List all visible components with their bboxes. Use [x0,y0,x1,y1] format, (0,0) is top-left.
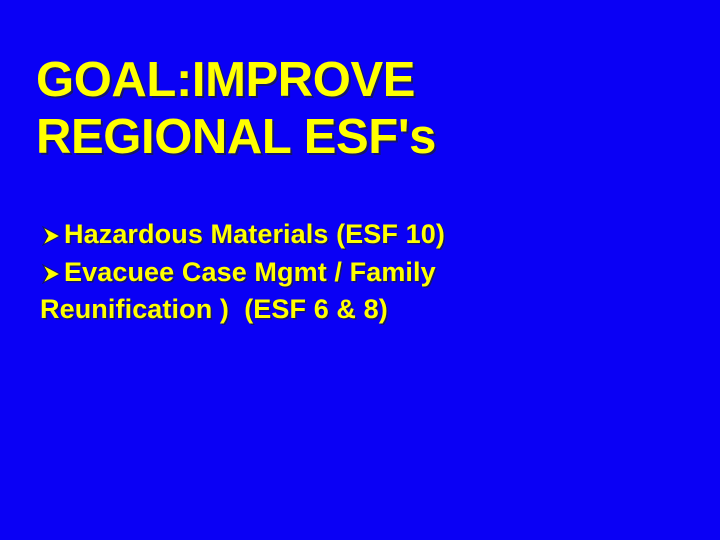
arrowhead-bullet-icon [40,262,63,286]
bullet-list-item: Hazardous Materials (ESF 10) [40,216,688,253]
bullet-text: Hazardous Materials (ESF 10) [64,219,445,249]
presentation-slide: GOAL:IMPROVE REGIONAL ESF's Hazardous Ma… [0,0,720,540]
title-line-1: GOAL:IMPROVE [36,52,684,109]
arrowhead-bullet-icon [40,224,63,248]
bullet-list-item: Evacuee Case Mgmt / Family Reunification… [40,254,600,328]
slide-title: GOAL:IMPROVE REGIONAL ESF's [36,52,684,166]
bullet-text: Evacuee Case Mgmt / Family Reunification… [40,257,443,324]
title-line-2: REGIONAL ESF's [36,109,684,166]
slide-body: Hazardous Materials (ESF 10) Evacuee Cas… [40,216,688,329]
